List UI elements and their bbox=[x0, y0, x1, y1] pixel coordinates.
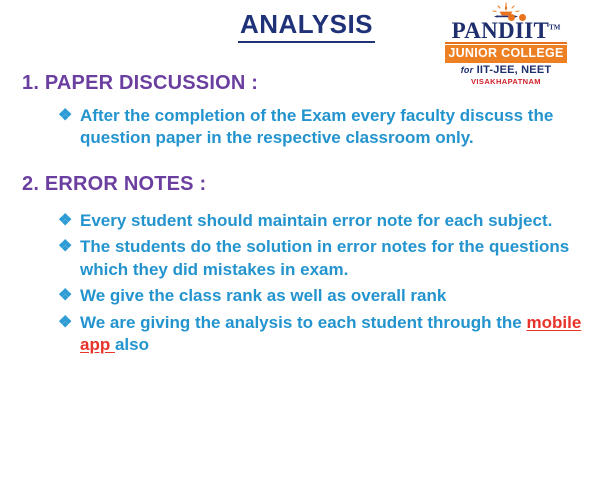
list-item-text-after: also bbox=[115, 335, 149, 354]
logo-banner: JUNIOR COLLEGE bbox=[445, 45, 567, 63]
list-item: ❖ We are giving the analysis to each stu… bbox=[58, 312, 595, 357]
list-item-text: The students do the solution in error no… bbox=[80, 237, 569, 278]
list-item: ❖ Every student should maintain error no… bbox=[58, 210, 595, 232]
section-heading-error-notes: 2. ERROR NOTES : bbox=[22, 151, 595, 196]
bullet-list-error-notes: ❖ Every student should maintain error no… bbox=[22, 196, 595, 357]
slide-canvas: { "header": { "title": "ANALYSIS" }, "lo… bbox=[0, 0, 613, 478]
list-item-text: After the completion of the Exam every f… bbox=[80, 106, 553, 147]
diamond-bullet-icon: ❖ bbox=[58, 236, 72, 257]
logo-wordmark-text: PANDIIT bbox=[452, 18, 550, 43]
list-item: ❖ We give the class rank as well as over… bbox=[58, 285, 595, 307]
diamond-bullet-icon: ❖ bbox=[58, 285, 72, 306]
list-item-text: We give the class rank as well as overal… bbox=[80, 286, 446, 305]
slide-content: 1. PAPER DISCUSSION : ❖ After the comple… bbox=[0, 66, 613, 361]
slide-header: ANALYSIS PANDII bbox=[0, 0, 613, 66]
list-item-text: Every student should maintain error note… bbox=[80, 211, 552, 230]
logo-wordmark: PANDIITTM bbox=[452, 19, 561, 42]
list-item: ❖ The students do the solution in error … bbox=[58, 236, 595, 281]
diamond-bullet-icon: ❖ bbox=[58, 312, 72, 333]
list-item: ❖ After the completion of the Exam every… bbox=[58, 105, 595, 150]
list-item-text-before: We are giving the analysis to each stude… bbox=[80, 313, 526, 332]
diamond-bullet-icon: ❖ bbox=[58, 210, 72, 231]
page-title-text: ANALYSIS bbox=[238, 9, 375, 43]
logo-dots-icon bbox=[508, 14, 530, 22]
section-heading-paper-discussion: 1. PAPER DISCUSSION : bbox=[22, 66, 595, 95]
diamond-bullet-icon: ❖ bbox=[58, 105, 72, 126]
bullet-list-paper-discussion: ❖ After the completion of the Exam every… bbox=[22, 95, 595, 150]
trademark-mark: TM bbox=[549, 23, 560, 31]
lamp-diya-icon bbox=[445, 2, 567, 19]
